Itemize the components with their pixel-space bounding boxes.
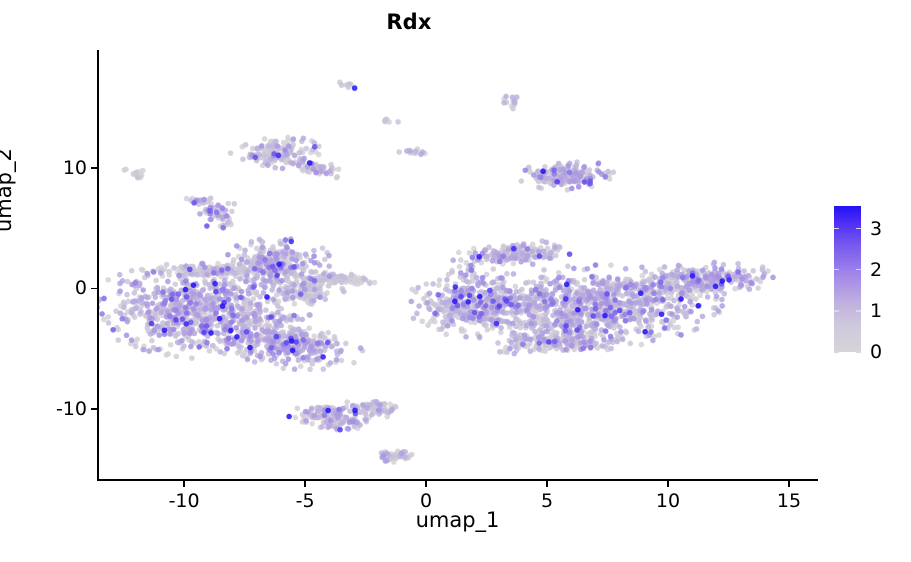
x-tick-mark: [546, 481, 548, 487]
colorbar-tick-mark: [856, 228, 861, 230]
colorbar-tick-mark: [834, 269, 839, 271]
x-tick-mark: [183, 481, 185, 487]
x-tick-mark: [788, 481, 790, 487]
y-tick-label: 10: [63, 157, 87, 179]
colorbar-tick-mark: [834, 228, 839, 230]
plot-axes: -10-5051015 100-10: [97, 50, 818, 481]
page-title: Rdx: [0, 10, 818, 34]
scatter-points-layer: [97, 50, 818, 481]
umap-feature-plot: Rdx -10-5051015 100-10 umap_1 umap_2 321…: [0, 0, 911, 562]
colorbar-legend: 3210: [834, 206, 904, 352]
colorbar-tick-label: 3: [870, 218, 882, 240]
x-tick-mark: [425, 481, 427, 487]
colorbar-tick-label: 1: [870, 300, 882, 322]
y-axis-label: umap_2: [0, 148, 16, 232]
colorbar-tick-mark: [834, 310, 839, 312]
y-tick-mark: [91, 167, 97, 169]
colorbar-tick-label: 0: [870, 341, 882, 363]
colorbar-tick-mark: [856, 310, 861, 312]
x-tick-mark: [304, 481, 306, 487]
x-axis-spine: [97, 479, 818, 481]
y-tick-label: -10: [56, 398, 87, 420]
x-tick-mark: [667, 481, 669, 487]
x-axis-label: umap_1: [97, 508, 818, 532]
colorbar-tick-mark: [856, 351, 861, 353]
y-tick-label: 0: [75, 277, 87, 299]
y-tick-mark: [91, 408, 97, 410]
colorbar-tick-mark: [834, 351, 839, 353]
colorbar-tick-label: 2: [870, 259, 882, 281]
y-tick-mark: [91, 288, 97, 290]
y-axis-spine: [97, 50, 99, 481]
colorbar-tick-mark: [856, 269, 861, 271]
